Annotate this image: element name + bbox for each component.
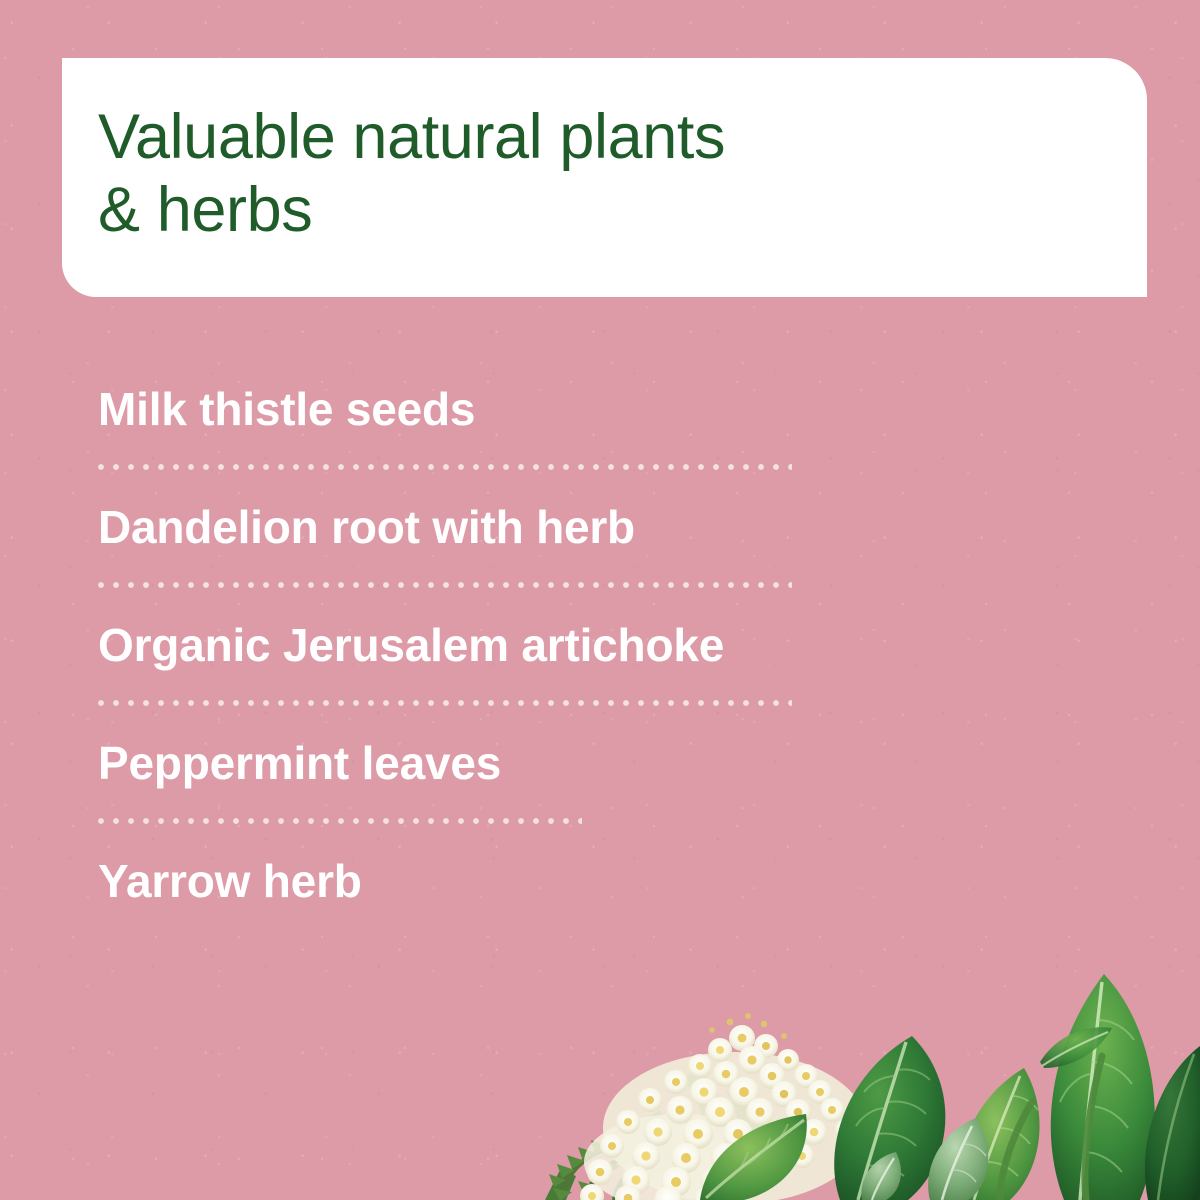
page-title: Valuable natural plants & herbs xyxy=(98,101,725,247)
list-item: Peppermint leaves xyxy=(98,740,1098,858)
ingredient-label: Milk thistle seeds xyxy=(98,386,475,432)
mint-leaves xyxy=(700,974,1200,1200)
yarrow-fern-foliage xyxy=(545,1140,664,1200)
poster-canvas: Valuable natural plants & herbs Milk thi… xyxy=(0,0,1200,1200)
ingredient-label: Yarrow herb xyxy=(98,858,362,904)
list-item: Organic Jerusalem artichoke xyxy=(98,622,1098,740)
dotted-divider xyxy=(98,700,792,706)
headline-card: Valuable natural plants & herbs xyxy=(62,58,1147,297)
ingredient-label: Dandelion root with herb xyxy=(98,504,635,550)
list-item: Dandelion root with herb xyxy=(98,504,1098,622)
ingredient-label: Organic Jerusalem artichoke xyxy=(98,622,724,668)
list-item: Yarrow herb xyxy=(98,858,1098,976)
list-item: Milk thistle seeds xyxy=(98,386,1098,504)
ingredient-label: Peppermint leaves xyxy=(98,740,501,786)
dotted-divider xyxy=(98,582,792,588)
yarrow-florets xyxy=(580,1025,857,1200)
dotted-divider xyxy=(98,818,582,824)
ingredient-list: Milk thistle seeds Dandelion root with h… xyxy=(98,386,1098,976)
dotted-divider xyxy=(98,464,792,470)
yarrow-flower-cluster xyxy=(580,1013,867,1200)
